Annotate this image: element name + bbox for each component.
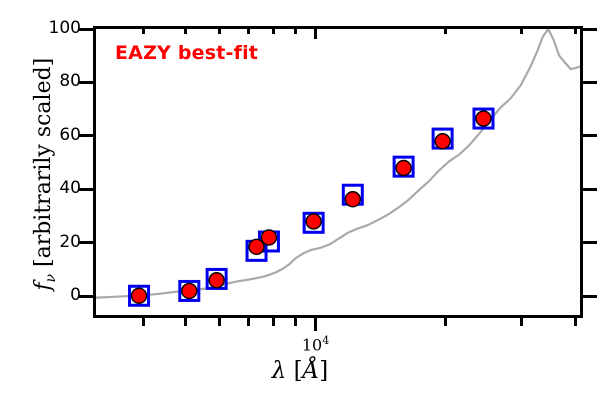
y-axis-tick-label: 40 xyxy=(59,178,81,198)
x-axis-tick-minor-top xyxy=(142,26,145,34)
y-axis-label: fν [arbitrarily scaled] xyxy=(31,4,59,344)
observed-photometry-point xyxy=(249,239,264,254)
y-axis-label-rest: [arbitrarily scaled] xyxy=(31,58,56,274)
x-axis-label-angstrom: Å xyxy=(303,358,320,384)
y-axis-tick-left xyxy=(79,28,93,31)
y-axis-tick-label: 20 xyxy=(59,232,81,252)
y-axis-label-nu: ν xyxy=(43,274,59,283)
observed-photometry-point xyxy=(261,230,276,245)
x-axis-tick-minor-bottom xyxy=(520,318,523,326)
x-axis-tick-minor-bottom xyxy=(294,318,297,326)
sed-curve-group xyxy=(96,29,580,298)
x-axis-tick-label-1e4: 104 xyxy=(302,334,329,354)
x-axis-label-bracket-open: [ xyxy=(286,358,302,384)
y-axis-tick-left xyxy=(79,295,93,298)
observed-photometry-point xyxy=(396,160,411,175)
x-axis-tick-minor-top xyxy=(574,26,577,34)
y-axis-tick-right xyxy=(583,295,597,298)
observed-photometry-point xyxy=(476,111,491,126)
x-axis-label-bracket-close: ] xyxy=(319,358,328,384)
x-axis-label: λ [Å] xyxy=(0,358,600,384)
y-axis-tick-left xyxy=(79,134,93,137)
x-axis-tick-minor-top xyxy=(272,26,275,34)
x-axis-tick-minor-bottom xyxy=(444,318,447,326)
x-axis-tick-minor-top xyxy=(444,26,447,34)
sed-template-curve xyxy=(96,29,580,298)
observed-photometry-point xyxy=(209,273,224,288)
y-axis-tick-right xyxy=(583,28,597,31)
observed-photometry-point xyxy=(345,192,360,207)
y-axis-tick-left xyxy=(79,81,93,84)
y-axis-tick-right xyxy=(583,188,597,191)
eazy-best-fit-annotation: EAZY best-fit xyxy=(115,42,258,64)
x-axis-tick-major-bottom xyxy=(314,318,317,331)
observed-photometry-point xyxy=(132,288,147,303)
x-axis-tick-minor-bottom xyxy=(574,318,577,326)
x-axis-tick-minor-top xyxy=(184,26,187,34)
x-axis-tick-minor-bottom xyxy=(218,318,221,326)
plot-area xyxy=(93,26,583,318)
plot-data-layer xyxy=(96,29,580,315)
observed-photometry-markers xyxy=(132,111,491,303)
x-axis-tick-minor-top xyxy=(247,26,250,34)
x-axis-tick-minor-bottom xyxy=(272,318,275,326)
y-axis-tick-right xyxy=(583,134,597,137)
y-axis-tick-label: 0 xyxy=(70,285,81,305)
x-axis-tick-minor-top xyxy=(520,26,523,34)
y-axis-tick-right xyxy=(583,241,597,244)
x-tick-exponent: 4 xyxy=(322,334,329,347)
x-tick-mantissa: 10 xyxy=(302,335,322,354)
observed-photometry-point xyxy=(182,283,197,298)
sed-plot-figure: EAZY best-fit 020406080100 fν [arbitrari… xyxy=(0,0,600,400)
x-axis-tick-minor-bottom xyxy=(142,318,145,326)
observed-photometry-point xyxy=(306,214,321,229)
y-axis-tick-left xyxy=(79,188,93,191)
x-axis-tick-minor-bottom xyxy=(184,318,187,326)
y-axis-tick-left xyxy=(79,241,93,244)
x-axis-tick-minor-top xyxy=(294,26,297,34)
x-axis-label-lambda: λ xyxy=(272,358,287,384)
x-axis-tick-minor-top xyxy=(218,26,221,34)
y-axis-tick-right xyxy=(583,81,597,84)
y-axis-tick-label: 60 xyxy=(59,125,81,145)
x-axis-tick-minor-bottom xyxy=(247,318,250,326)
x-axis-tick-major-top xyxy=(314,26,317,39)
y-axis-tick-label: 80 xyxy=(59,71,81,91)
y-axis-label-f: f xyxy=(31,283,56,291)
observed-photometry-point xyxy=(435,134,450,149)
